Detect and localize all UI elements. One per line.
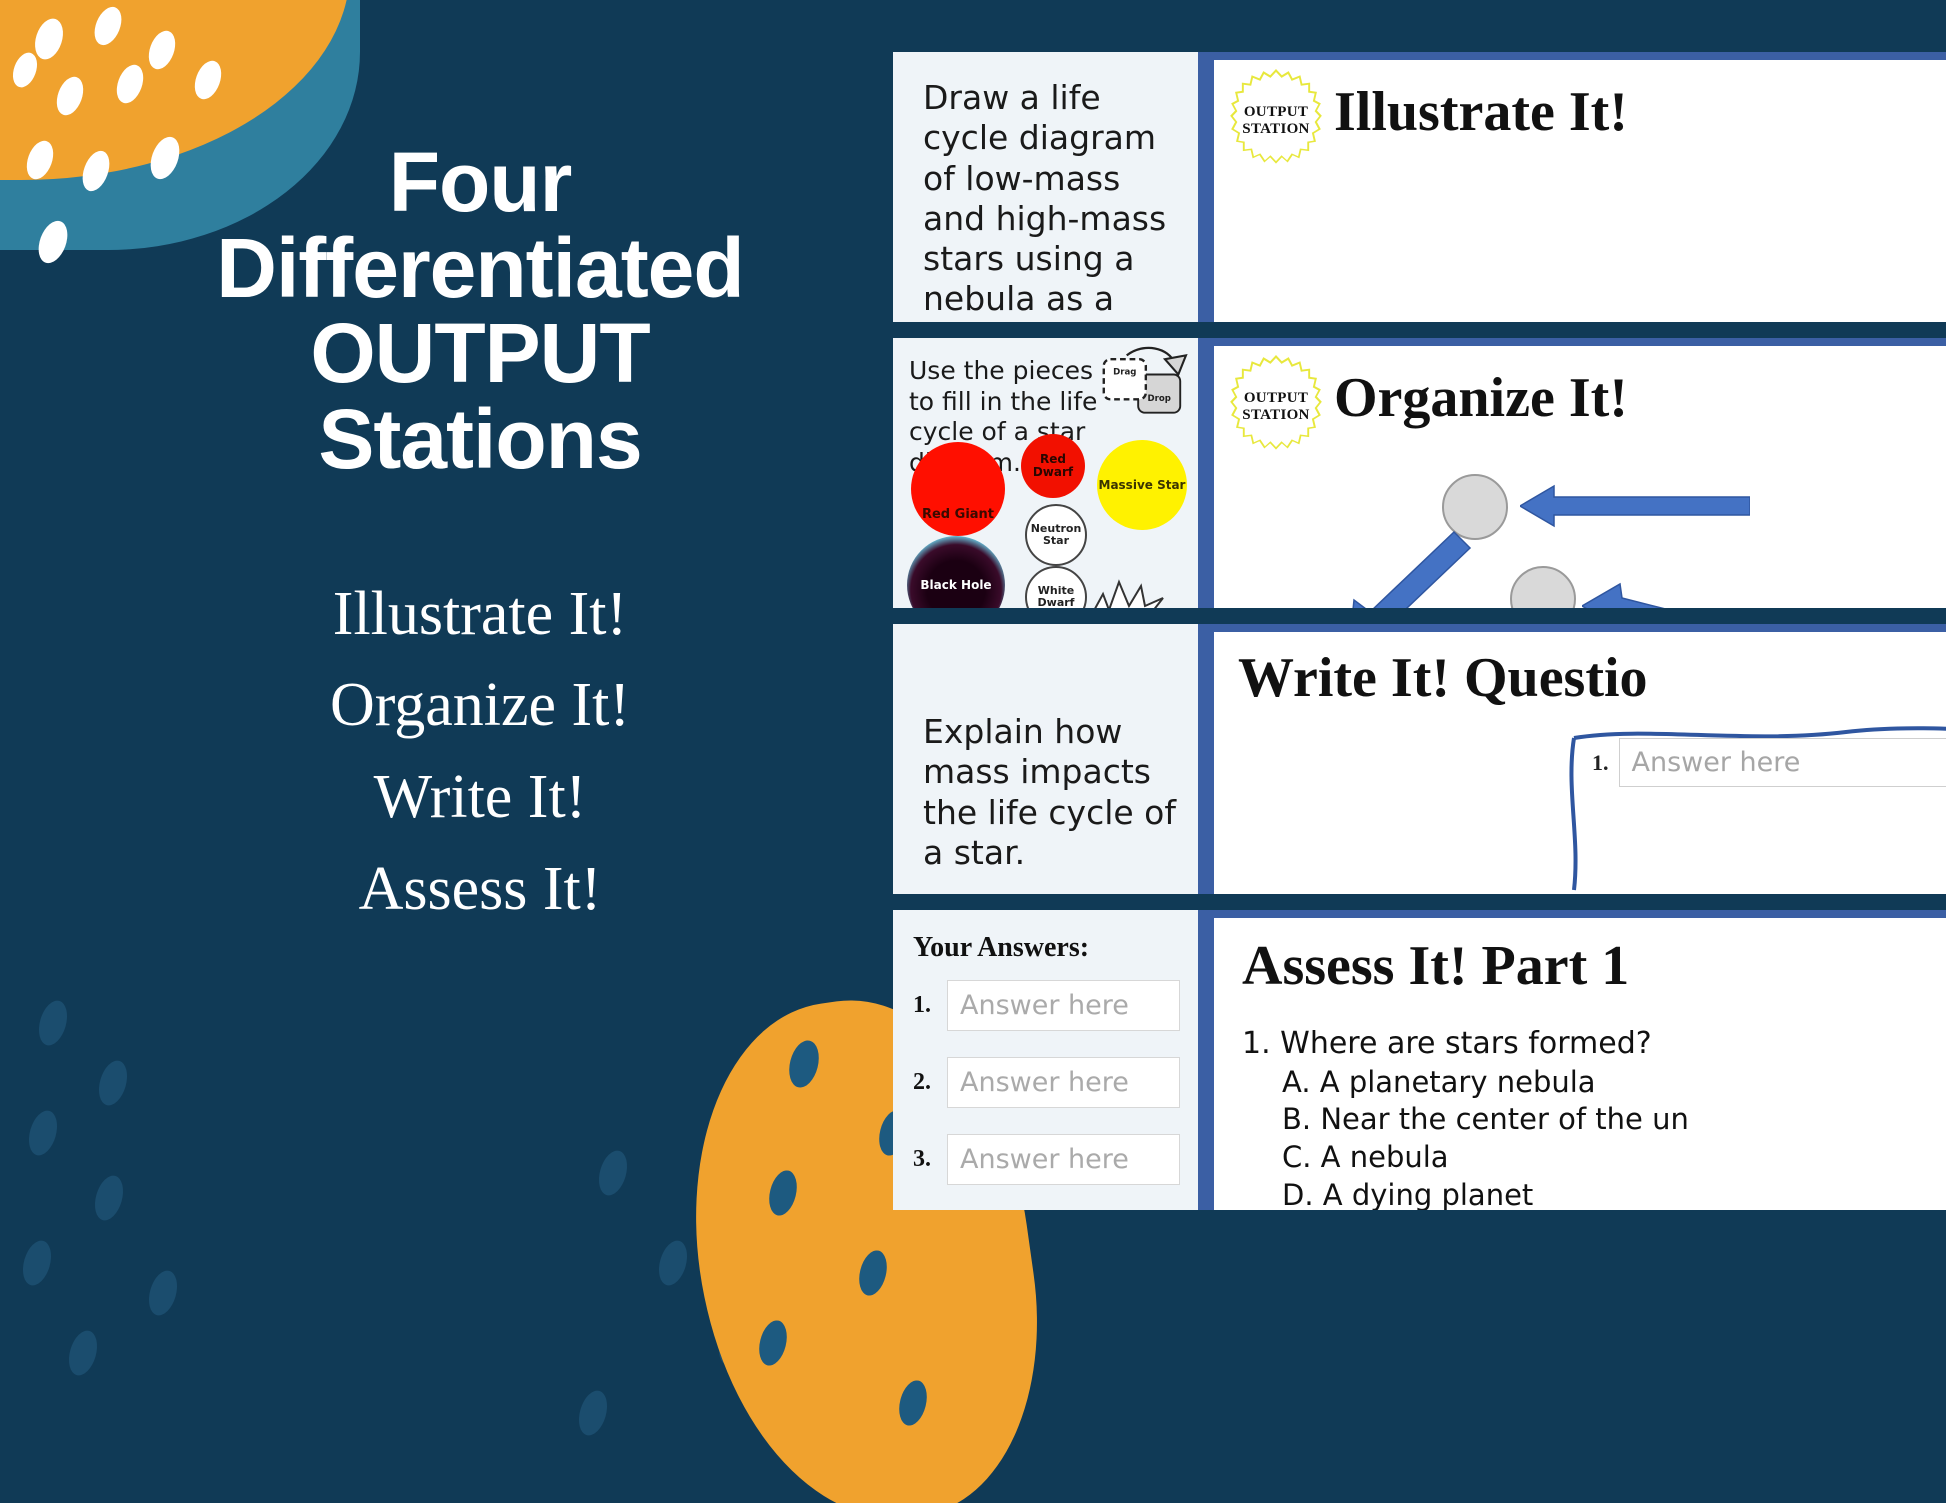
badge-line-2: STATION [1242,121,1309,138]
organize-canvas-pane: OUTPUT STATION Organize It! [1198,338,1946,608]
confetti-dot [64,1327,102,1378]
confetti-dot [94,1057,132,1108]
star-piece-label: Black Hole [920,579,991,592]
slide-previews: Draw a life cycle diagram of low-mass an… [893,52,1946,1226]
title-line-3: OUTPUT [130,311,830,397]
illustrate-prompt-pane: Draw a life cycle diagram of low-mass an… [893,52,1198,322]
illustrate-canvas-pane: OUTPUT STATION Illustrate It! [1198,52,1946,322]
assess-questions-pane: Assess It! Part 1 1. Where are stars for… [1198,910,1946,1210]
confetti-dot [34,997,72,1048]
station-item-illustrate: Illustrate It! [130,569,830,661]
star-piece-massive-star[interactable]: Massive Star [1097,440,1187,530]
answer-number: 1. [1592,750,1609,776]
confetti-dot [90,1172,128,1223]
write-answer-input[interactable]: Answer here [1619,738,1946,787]
star-piece-black-hole[interactable]: Black Hole [907,536,1005,608]
assess-answer-row[interactable]: 2. Answer here [913,1057,1180,1108]
confetti-dot [18,1237,56,1288]
organize-prompt-pane: Use the pieces to fill in the life cycle… [893,338,1198,608]
badge-line-1: OUTPUT [1242,104,1309,121]
star-piece-red-giant[interactable]: Red Giant [911,442,1005,536]
title-column: Four Differentiated OUTPUT Stations Illu… [130,140,830,936]
question-number: 1. [1242,1026,1271,1061]
assess-question-1: 1. Where are stars formed? A. A planetar… [1242,1024,1946,1210]
diagram-slot-circle[interactable] [1510,566,1576,608]
star-piece-white-dwarf[interactable]: White Dwarf [1025,566,1087,608]
illustrate-prompt-text: Draw a life cycle diagram of low-mass an… [923,78,1176,320]
station-item-write: Write It! [130,752,830,844]
station-list: Illustrate It! Organize It! Write It! As… [130,569,830,936]
supernova-burst-icon [1089,576,1169,608]
confetti-dot [654,1237,692,1288]
slide-preview-assess-it[interactable]: Your Answers: 1. Answer here 2. Answer h… [893,910,1946,1210]
arrow-down-left-icon [1344,526,1474,608]
badge-line-1: OUTPUT [1242,390,1309,407]
write-canvas-pane: Write It! Questio 1. Answer here [1198,624,1946,894]
station-item-assess: Assess It! [130,844,830,936]
svg-text:Drop: Drop [1147,394,1170,404]
assess-answer-row[interactable]: 3. Answer here [913,1134,1180,1185]
assess-answer-input[interactable]: Answer here [947,1134,1180,1185]
arrow-left-icon [1520,482,1750,530]
title-line-1: Four [130,140,830,226]
star-piece-label: Red Dwarf [1021,453,1085,478]
confetti-dot [144,1267,182,1318]
slide-title-organize-it: Organize It! [1334,366,1628,430]
question-choice[interactable]: C. A nebula [1282,1139,1946,1177]
arrow-up-left-icon [1582,578,1792,608]
question-choice[interactable]: A. A planetary nebula [1282,1064,1946,1102]
confetti-dot [574,1387,612,1438]
svg-text:Drag: Drag [1113,367,1136,377]
question-choice[interactable]: D. A dying planet [1282,1177,1946,1210]
output-station-badge-icon: OUTPUT STATION [1230,72,1322,170]
station-item-organize: Organize It! [130,660,830,752]
star-piece-label: Red Giant [922,508,994,522]
star-piece-neutron-star[interactable]: Neutron Star [1025,504,1087,566]
slide-preview-organize-it[interactable]: Use the pieces to fill in the life cycle… [893,338,1946,608]
assess-answer-row[interactable]: 1. Answer here [913,980,1180,1031]
write-prompt-text: Explain how mass impacts the life cycle … [923,712,1176,873]
question-text: 1. Where are stars formed? [1242,1024,1946,1064]
slide-preview-illustrate-it[interactable]: Draw a life cycle diagram of low-mass an… [893,52,1946,322]
slide-preview-write-it[interactable]: Explain how mass impacts the life cycle … [893,624,1946,894]
assess-answer-input[interactable]: Answer here [947,980,1180,1031]
badge-line-2: STATION [1242,407,1309,424]
drag-drop-glyph: Drop Drag [1094,342,1190,428]
star-piece-label: Neutron Star [1027,523,1085,546]
star-piece-label: White Dwarf [1027,585,1085,608]
your-answers-label: Your Answers: [913,932,1180,964]
write-answer-row[interactable]: 1. Answer here [1592,738,1946,787]
assess-answers-pane: Your Answers: 1. Answer here 2. Answer h… [893,910,1198,1210]
write-prompt-pane: Explain how mass impacts the life cycle … [893,624,1198,894]
question-choice[interactable]: B. Near the center of the un [1282,1101,1946,1139]
star-piece-label: Massive Star [1099,479,1186,492]
slide-title-illustrate-it: Illustrate It! [1334,80,1628,144]
confetti-dot [24,1107,62,1158]
drag-drop-icon: Drop Drag [1094,342,1190,428]
answer-number: 1. [913,992,939,1019]
slide-title-assess-it: Assess It! Part 1 [1242,934,1946,998]
output-station-badge-icon: OUTPUT STATION [1230,358,1322,456]
title-line-4: Stations [130,397,830,483]
slide-title-write-it: Write It! Questio [1238,646,1648,710]
answer-number: 2. [913,1069,939,1096]
question-body: Where are stars formed? [1280,1026,1652,1061]
slide-canvas: Four Differentiated OUTPUT Stations Illu… [0,0,1946,1503]
star-piece-red-dwarf[interactable]: Red Dwarf [1021,434,1085,498]
confetti-dot [594,1147,632,1198]
answer-number: 3. [913,1146,939,1173]
assess-answer-input[interactable]: Answer here [947,1057,1180,1108]
title-line-2: Differentiated [130,226,830,312]
page-title: Four Differentiated OUTPUT Stations [130,140,830,483]
